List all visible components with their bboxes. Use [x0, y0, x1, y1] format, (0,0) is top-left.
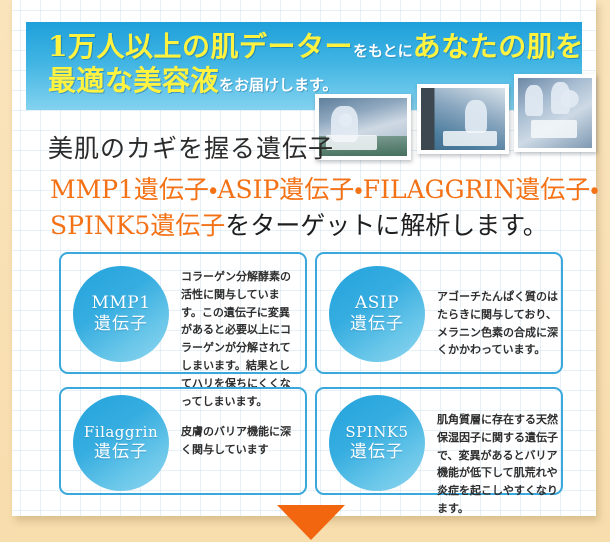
- hero-headline-primary: 1万人以上の肌データー: [48, 30, 353, 63]
- gene-badge-suffix: 遺伝子: [350, 315, 404, 334]
- gene-badge-mmp1: MMP1 遺伝子: [73, 266, 169, 362]
- scroll-down-arrow[interactable]: [277, 505, 345, 540]
- gene-names-line-1: MMP1遺伝子・ASIP遺伝子・FILAGGRIN遺伝子・: [50, 175, 599, 204]
- cleanroom-workers-photo: [514, 74, 596, 152]
- lab-photo-image: [518, 78, 592, 148]
- gene-card-inner: Filaggrin 遺伝子 皮膚のバリア機能に深く関与しています: [61, 389, 305, 493]
- gene-target-statement: MMP1遺伝子・ASIP遺伝子・FILAGGRIN遺伝子・ SPINK5遺伝子を…: [50, 172, 595, 243]
- gene-badge-name: Filaggrin: [84, 424, 158, 441]
- gene-card-inner: ASIP 遺伝子 アゴーチたんぱく質のはたらきに関与しており、メラニン色素の合成…: [317, 254, 561, 372]
- gene-badge-name: ASIP: [355, 294, 399, 313]
- hero-banner-line-1: 1万人以上の肌データーをもとにあなたの肌を解析。: [48, 30, 582, 63]
- gene-card-spink5[interactable]: SPINK5 遺伝子 肌角質層に存在する天然保湿因子に関する遺伝子で、変異がある…: [315, 387, 563, 495]
- gene-card-filaggrin[interactable]: Filaggrin 遺伝子 皮膚のバリア機能に深く関与しています: [59, 387, 307, 495]
- hero-subheadline-tail: をお届けします。: [219, 76, 338, 94]
- gene-card-inner: MMP1 遺伝子 コラーゲン分解酵素の活性に関与しています。この遺伝子に変異があ…: [61, 254, 305, 372]
- gene-badge-suffix: 遺伝子: [94, 443, 148, 462]
- gene-target-line-2: SPINK5遺伝子をターゲットに解析します。: [50, 208, 595, 244]
- gene-badge-spink5: SPINK5 遺伝子: [329, 395, 425, 491]
- lab-photo-image: [421, 88, 505, 150]
- gene-card-asip[interactable]: ASIP 遺伝子 アゴーチたんぱく質のはたらきに関与しており、メラニン色素の合成…: [315, 252, 563, 374]
- photo-worker-figure: [465, 100, 487, 132]
- photo-worker-figure: [525, 85, 543, 116]
- gene-card-inner: SPINK5 遺伝子 肌角質層に存在する天然保湿因子に関する遺伝子で、変異がある…: [317, 389, 561, 493]
- photo-bench-overlay: [443, 131, 497, 146]
- gene-badge-suffix: 遺伝子: [94, 315, 148, 334]
- gene-card-description: アゴーチたんぱく質のはたらきに関与しており、メラニン色素の合成に深くかかわってい…: [437, 288, 559, 359]
- gene-badge-name: MMP1: [91, 294, 150, 313]
- section-heading: 美肌のカギを握る遺伝子: [48, 129, 334, 165]
- hero-headline-secondary: あなたの肌を解析: [413, 30, 582, 63]
- gene-target-tail: をターゲットに解析します。: [225, 211, 548, 240]
- hero-headline-connector: をもとに: [353, 42, 413, 60]
- gene-badge-asip: ASIP 遺伝子: [329, 266, 425, 362]
- photo-worker-figure: [551, 82, 570, 114]
- page-root: 1万人以上の肌データーをもとにあなたの肌を解析。 最適な美容液をお届けします。: [0, 0, 610, 542]
- gene-badge-name: SPINK5: [345, 424, 408, 441]
- photo-bench-overlay: [531, 120, 577, 138]
- gene-card-description: 肌角質層に存在する天然保湿因子に関する遺伝子で、変異があるとバリア機能が低下して…: [437, 411, 559, 518]
- lab-equipment-photo: [417, 84, 509, 154]
- gene-badge-filaggrin: Filaggrin 遺伝子: [73, 395, 169, 491]
- gene-card-mmp1[interactable]: MMP1 遺伝子 コラーゲン分解酵素の活性に関与しています。この遺伝子に変異があ…: [59, 252, 307, 374]
- gene-card-description: 皮膚のバリア機能に深く関与しています: [181, 423, 301, 459]
- gene-names-line-2: SPINK5遺伝子: [50, 211, 225, 240]
- content-sheet: 1万人以上の肌データーをもとにあなたの肌を解析。 最適な美容液をお届けします。: [12, 0, 596, 516]
- hero-subheadline-primary: 最適な美容液: [48, 64, 219, 97]
- gene-target-line-1: MMP1遺伝子・ASIP遺伝子・FILAGGRIN遺伝子・: [50, 172, 595, 208]
- gene-badge-suffix: 遺伝子: [350, 443, 404, 462]
